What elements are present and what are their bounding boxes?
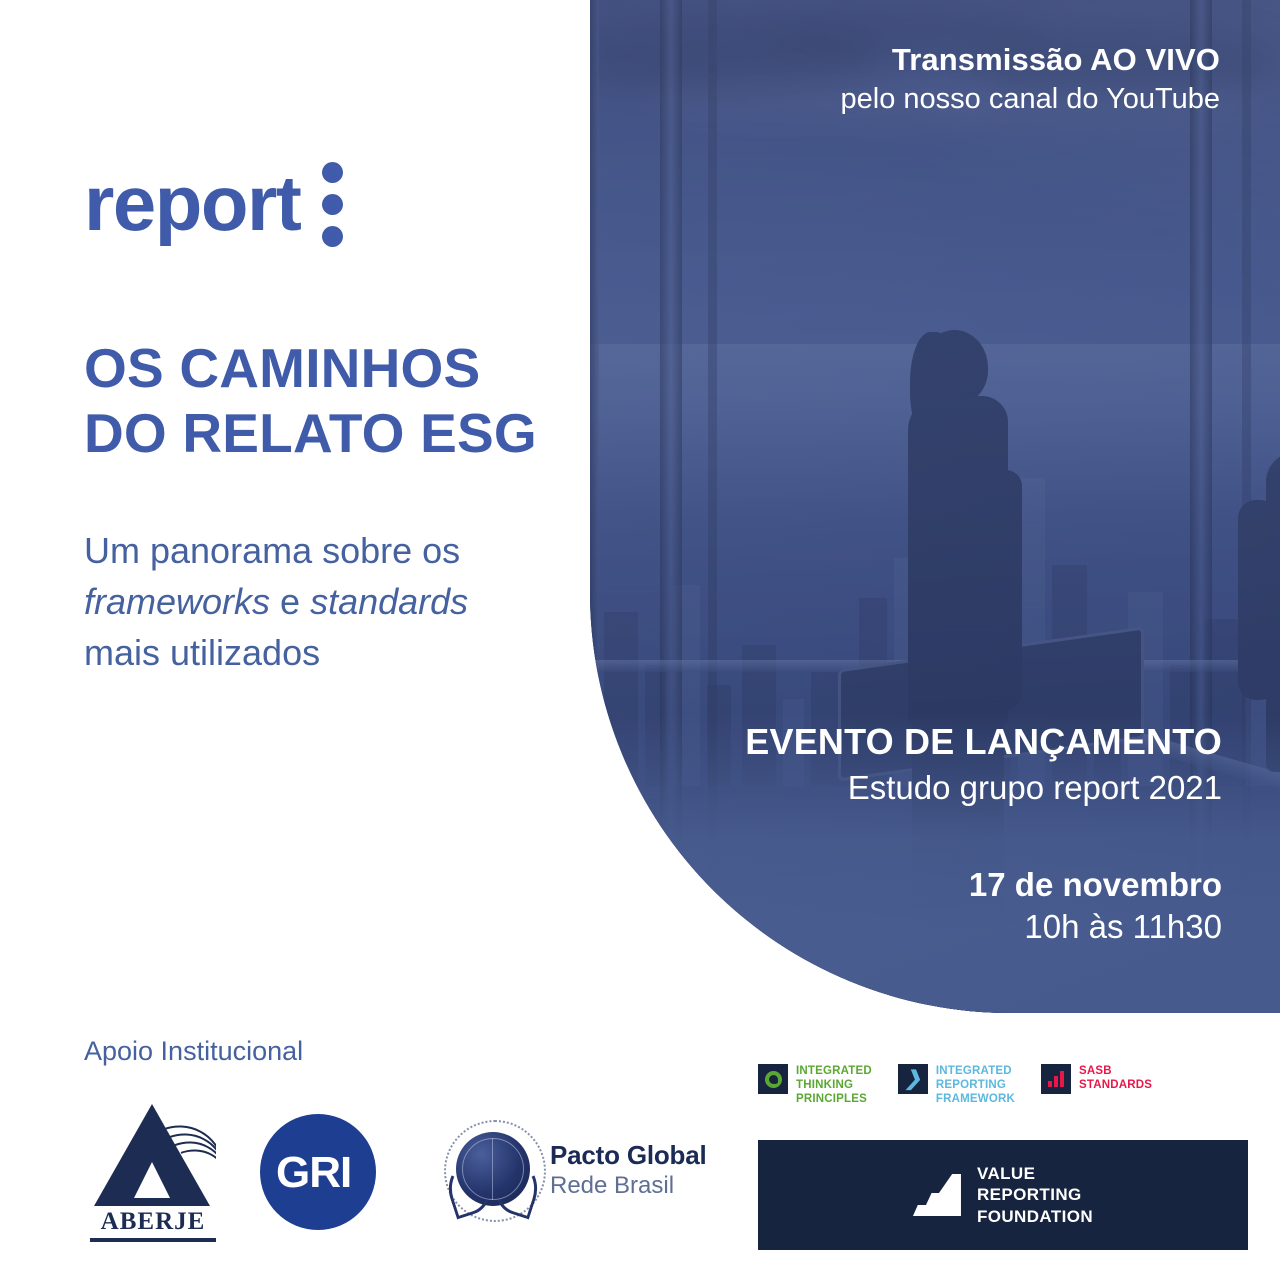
chevron-right-icon: ❯ xyxy=(898,1064,928,1094)
subtitle-italic-standards: standards xyxy=(310,581,468,622)
integrated-reporting-framework-logo[interactable]: ❯ INTEGRATED REPORTING FRAMEWORK xyxy=(898,1064,1015,1106)
photo-composition xyxy=(590,0,1280,1013)
poster-canvas: Transmissão AO VIVO pelo nosso canal do … xyxy=(0,0,1280,1280)
broadcast-channel: pelo nosso canal do YouTube xyxy=(841,81,1220,117)
subtitle-italic-frameworks: frameworks xyxy=(84,581,270,622)
hero-photo-panel xyxy=(590,0,1280,1013)
broadcast-title: Transmissão AO VIVO xyxy=(841,42,1220,79)
pacto-global-logo[interactable]: Pacto Global Rede Brasil xyxy=(442,1114,742,1230)
vrf-name-line3: FOUNDATION xyxy=(977,1207,1093,1226)
event-datetime: 17 de novembro 10h às 11h30 xyxy=(969,866,1222,947)
itp-label-line1: INTEGRATED xyxy=(796,1065,872,1077)
event-time: 10h às 11h30 xyxy=(969,907,1222,947)
value-reporting-foundation-logos: INTEGRATED THINKING PRINCIPLES ❯ INTEGRA… xyxy=(758,1064,1248,1256)
gear-icon xyxy=(758,1064,788,1094)
event-date: 17 de novembro xyxy=(969,866,1222,905)
integrated-thinking-principles-logo[interactable]: INTEGRATED THINKING PRINCIPLES xyxy=(758,1064,872,1106)
sasb-label-line1: SASB xyxy=(1079,1065,1112,1077)
vrf-steps-icon xyxy=(913,1174,961,1216)
aberje-logo[interactable]: ABERJE xyxy=(88,1104,218,1246)
broadcast-info: Transmissão AO VIVO pelo nosso canal do … xyxy=(841,42,1220,117)
event-info: EVENTO DE LANÇAMENTO Estudo grupo report… xyxy=(745,722,1222,807)
irf-label-line3: FRAMEWORK xyxy=(936,1093,1015,1105)
support-label: Apoio Institucional xyxy=(84,1036,303,1067)
report-logo-wordmark: report xyxy=(84,164,300,242)
vrf-name-line2: REPORTING xyxy=(977,1185,1082,1204)
bar-chart-icon xyxy=(1041,1064,1071,1094)
gri-wordmark: GRI xyxy=(276,1148,396,1198)
page-title: OS CAMINHOS DO RELATO ESG xyxy=(84,336,537,466)
sponsor-logo-row: ABERJE GRI Pacto Global Rede Brasil xyxy=(80,1096,760,1256)
sasb-standards-logo[interactable]: SASB STANDARDS xyxy=(1041,1064,1152,1094)
pacto-global-name: Pacto Global xyxy=(550,1140,707,1171)
sasb-label-line2: STANDARDS xyxy=(1079,1079,1152,1091)
subtitle-conjunction: e xyxy=(270,581,310,622)
pacto-global-network: Rede Brasil xyxy=(550,1172,674,1200)
page-subtitle-line3: mais utilizados xyxy=(84,627,468,678)
report-logo: report xyxy=(84,158,343,247)
irf-label-line1: INTEGRATED xyxy=(936,1065,1012,1077)
itp-label-line2: THINKING xyxy=(796,1079,853,1091)
laurel-wreath-icon xyxy=(448,1160,538,1214)
page-subtitle-line2: frameworks e standards xyxy=(84,576,468,627)
vertical-three-dots-icon xyxy=(322,158,343,247)
aberje-swoosh-icon xyxy=(132,1118,216,1212)
irf-label-line2: REPORTING xyxy=(936,1079,1006,1091)
page-title-line2: DO RELATO ESG xyxy=(84,401,537,466)
page-title-line1: OS CAMINHOS xyxy=(84,336,537,401)
itp-label-line3: PRINCIPLES xyxy=(796,1093,867,1105)
page-subtitle: Um panorama sobre os frameworks e standa… xyxy=(84,525,468,678)
aberje-wordmark: ABERJE xyxy=(88,1208,218,1236)
page-subtitle-line1: Um panorama sobre os xyxy=(84,525,468,576)
event-subtitle: Estudo grupo report 2021 xyxy=(745,768,1222,808)
vrf-banner[interactable]: VALUE REPORTING FOUNDATION xyxy=(758,1140,1248,1250)
event-title: EVENTO DE LANÇAMENTO xyxy=(745,722,1222,762)
vrf-name-line1: VALUE xyxy=(977,1164,1035,1183)
